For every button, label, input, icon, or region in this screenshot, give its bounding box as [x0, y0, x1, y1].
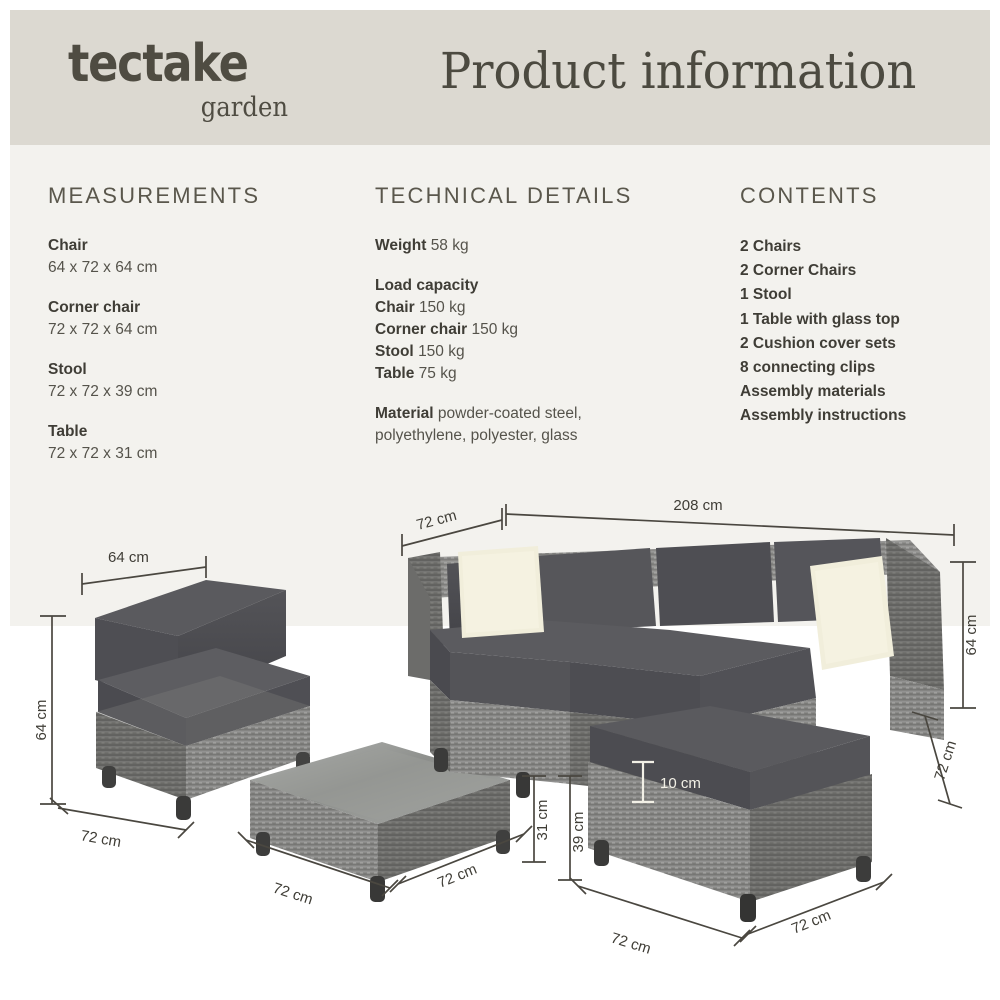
load-row: Table 75 kg: [375, 363, 725, 385]
load-label: Stool: [375, 343, 414, 360]
load-label: Corner chair: [375, 321, 467, 338]
load-label: Chair: [375, 299, 415, 316]
material-group: Material powder-coated steel, polyethyle…: [375, 403, 725, 447]
material-label: Material: [375, 405, 434, 422]
load-value: 150 kg: [419, 299, 466, 316]
measurement-value: 72 x 72 x 64 cm: [48, 319, 368, 341]
measurement-item: Stool 72 x 72 x 39 cm: [48, 359, 368, 403]
page-title: Product information: [440, 44, 933, 99]
measurement-label: Corner chair: [48, 297, 368, 319]
logo-subtitle: garden: [90, 94, 288, 121]
weight-row: Weight 58 kg: [375, 235, 725, 257]
list-item: 2 Cushion cover sets: [740, 332, 980, 356]
measurement-label: Stool: [48, 359, 368, 381]
brand-logo: tectake garden: [68, 38, 288, 121]
list-item: Assembly instructions: [740, 404, 980, 428]
weight-label: Weight: [375, 237, 426, 254]
list-item: 2 Chairs: [740, 235, 980, 259]
load-value: 150 kg: [418, 343, 465, 360]
load-row: Stool 150 kg: [375, 341, 725, 363]
dimension-label: 208 cm: [673, 497, 722, 514]
measurement-item: Chair 64 x 72 x 64 cm: [48, 235, 368, 279]
dimension-label: 64 cm: [33, 700, 50, 741]
dimension-label: 64 cm: [108, 549, 149, 566]
dimension-label: 64 cm: [963, 615, 980, 656]
contents-heading: CONTENTS: [740, 145, 980, 209]
measurement-value: 64 x 72 x 64 cm: [48, 257, 368, 279]
dimension-label: 10 cm: [660, 775, 701, 792]
weight-value: 58 kg: [431, 237, 469, 254]
column-technical-details: TECHNICAL DETAILS Weight 58 kg Load capa…: [375, 145, 725, 465]
contents-list: 2 Chairs 2 Corner Chairs 1 Stool 1 Table…: [740, 235, 980, 428]
list-item: Assembly materials: [740, 380, 980, 404]
load-capacity-group: Load capacity Chair 150 kg Corner chair …: [375, 275, 725, 385]
measurement-value: 72 x 72 x 39 cm: [48, 381, 368, 403]
product-info-sheet: tectake garden Product information MEASU…: [0, 0, 1000, 1000]
load-value: 150 kg: [471, 321, 518, 338]
column-contents: CONTENTS 2 Chairs 2 Corner Chairs 1 Stoo…: [740, 145, 980, 428]
measurement-value: 72 x 72 x 31 cm: [48, 443, 368, 465]
measurement-item: Table 72 x 72 x 31 cm: [48, 421, 368, 465]
material-value-line2: polyethylene, polyester, glass: [375, 425, 725, 447]
load-value: 75 kg: [419, 365, 457, 382]
dimension-label: 39 cm: [570, 812, 587, 853]
technical-heading: TECHNICAL DETAILS: [375, 145, 725, 209]
material-value: powder-coated steel,: [438, 405, 582, 422]
load-row: Chair 150 kg: [375, 297, 725, 319]
header-band: tectake garden Product information: [10, 10, 990, 145]
load-row: Corner chair 150 kg: [375, 319, 725, 341]
measurement-label: Chair: [48, 235, 368, 257]
list-item: 1 Table with glass top: [740, 308, 980, 332]
list-item: 1 Stool: [740, 283, 980, 307]
logo-wordmark: tectake: [68, 38, 257, 90]
measurement-item: Corner chair 72 x 72 x 64 cm: [48, 297, 368, 341]
column-measurements: MEASUREMENTS Chair 64 x 72 x 64 cm Corne…: [48, 145, 368, 501]
load-label: Table: [375, 365, 414, 382]
load-capacity-heading: Load capacity: [375, 277, 478, 294]
product-illustration: 64 cm 64 cm 72 cm 72 cm: [10, 480, 990, 990]
list-item: 2 Corner Chairs: [740, 259, 980, 283]
list-item: 8 connecting clips: [740, 356, 980, 380]
measurement-label: Table: [48, 421, 368, 443]
measurements-heading: MEASUREMENTS: [48, 145, 368, 209]
product-photo: 64 cm 64 cm 72 cm 72 cm: [10, 480, 990, 990]
dimension-label: 31 cm: [534, 800, 551, 841]
